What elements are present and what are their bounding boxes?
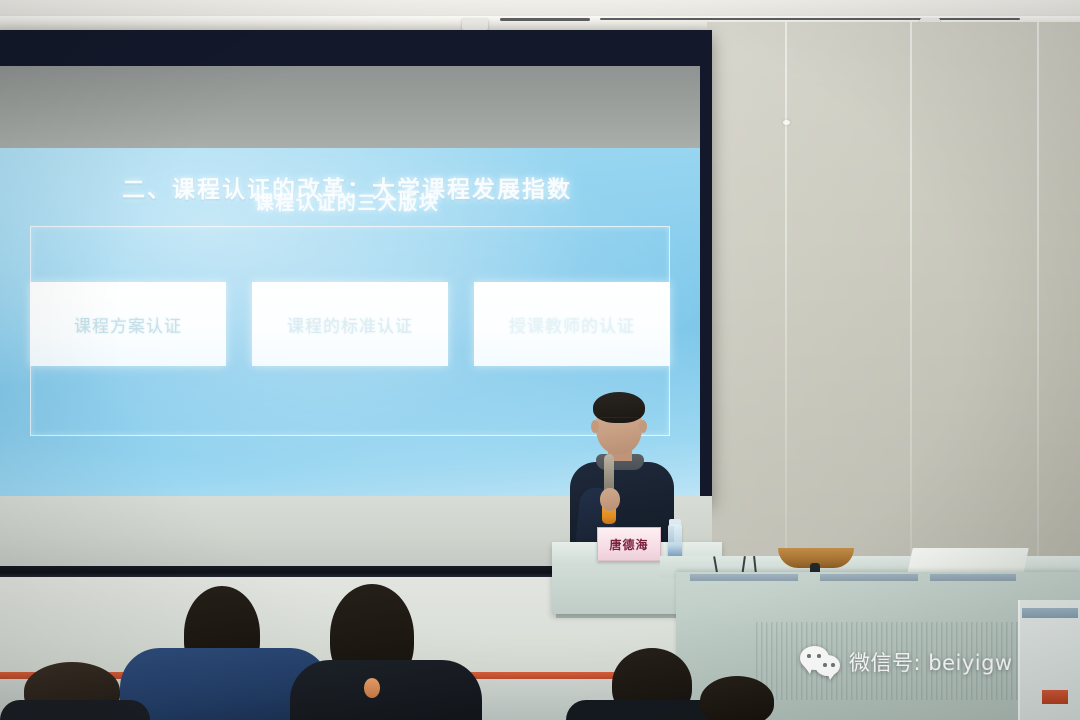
console-red-marker bbox=[1042, 690, 1068, 704]
console-trim-slot bbox=[930, 574, 1016, 581]
slide-card: 课程的标准认证 bbox=[252, 282, 448, 366]
wechat-eye bbox=[823, 663, 827, 667]
ceiling-cable bbox=[600, 18, 1020, 20]
screen-unlit-area bbox=[0, 66, 700, 148]
wechat-eye bbox=[817, 654, 821, 658]
ceiling-fixture bbox=[462, 18, 488, 30]
slide-card-label: 课程方案认证 bbox=[74, 312, 182, 337]
slide-card: 授课教师的认证 bbox=[474, 282, 670, 366]
right-wall-shading bbox=[707, 22, 1080, 622]
wechat-watermark: 微信号: beiyigw bbox=[800, 646, 1013, 678]
console-paper bbox=[907, 548, 1029, 574]
name-plate-text: 唐德海 bbox=[609, 536, 648, 553]
wechat-icon bbox=[800, 646, 840, 678]
wechat-eye bbox=[807, 654, 811, 658]
wechat-watermark-text: 微信号: beiyigw bbox=[849, 647, 1013, 677]
name-plate: 唐德海 bbox=[597, 527, 661, 561]
slide-card-label: 课程的标准认证 bbox=[287, 312, 413, 337]
console-trim-slot bbox=[820, 574, 918, 581]
slide-subtitle: 课程认证的三大版块 bbox=[0, 188, 700, 215]
slide-card-label: 授课教师的认证 bbox=[509, 312, 635, 337]
console-side-slot bbox=[1022, 608, 1078, 618]
speaker-hand bbox=[600, 488, 620, 511]
hair-scrunchie bbox=[364, 678, 380, 698]
speaker-ear bbox=[591, 420, 599, 433]
wechat-bubble-small bbox=[815, 655, 840, 676]
ceiling-cable bbox=[500, 18, 590, 21]
console-trim-slot bbox=[690, 574, 798, 581]
wechat-eye bbox=[831, 663, 835, 667]
speaker-glasses bbox=[600, 417, 638, 426]
slide-card-group: 课程方案认证 课程的标准认证 授课教师的认证 bbox=[30, 282, 670, 372]
audience-shoulders bbox=[0, 700, 150, 720]
audience-head bbox=[700, 676, 774, 720]
speaker-ear bbox=[639, 420, 647, 433]
audience-shoulders bbox=[290, 660, 482, 720]
slide-card: 课程方案认证 bbox=[30, 282, 226, 366]
lecture-photo: 二、课程认证的改革：大学课程发展指数 课程认证的三大版块 课程方案认证 课程的标… bbox=[0, 0, 1080, 720]
